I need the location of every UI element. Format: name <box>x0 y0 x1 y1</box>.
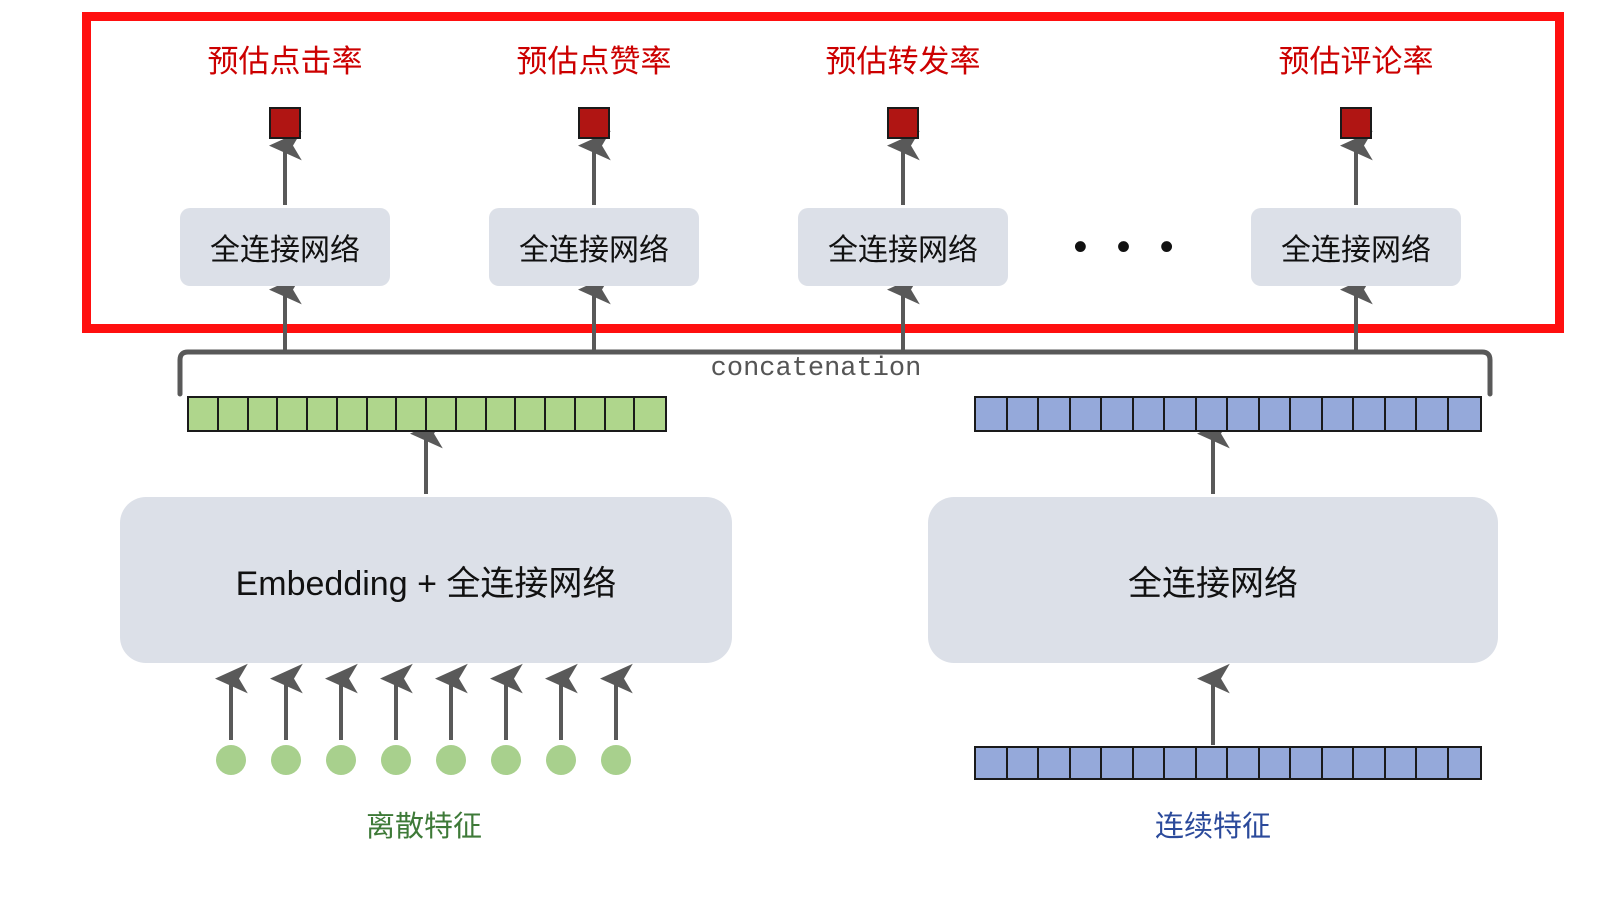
vector-cell <box>976 398 1008 430</box>
vector-cell <box>1354 748 1386 778</box>
fc-box-like: 全连接网络 <box>489 208 699 286</box>
vector-cell <box>1071 748 1103 778</box>
vector-cell <box>427 398 457 430</box>
discrete-feature-dot <box>326 745 356 775</box>
vector-cell <box>1039 398 1071 430</box>
vector-cell <box>1417 748 1449 778</box>
vector-cell <box>1291 748 1323 778</box>
vector-cell <box>487 398 517 430</box>
vector-cell <box>1260 748 1292 778</box>
vector-cell <box>338 398 368 430</box>
vector-cell <box>1291 398 1323 430</box>
vector-cell <box>397 398 427 430</box>
vector-cell <box>1134 398 1166 430</box>
discrete-feature-dot <box>546 745 576 775</box>
discrete-feature-dot <box>436 745 466 775</box>
ellipsis-more-towers: • • • <box>1073 227 1182 267</box>
discrete-feature-dot <box>381 745 411 775</box>
continuous-input-vector <box>974 746 1482 780</box>
prediction-label-ctr: 预估点击率 <box>208 46 363 77</box>
vector-cell <box>606 398 636 430</box>
continuous-fc-box: 全连接网络 <box>928 497 1498 663</box>
vector-cell <box>368 398 398 430</box>
output-square-ctr <box>269 107 301 139</box>
vector-cell <box>1008 748 1040 778</box>
vector-cell <box>1165 398 1197 430</box>
vector-cell <box>278 398 308 430</box>
vector-cell <box>516 398 546 430</box>
vector-cell <box>219 398 249 430</box>
vector-cell <box>1039 748 1071 778</box>
vector-cell <box>1449 748 1481 778</box>
embedding-fc-box: Embedding + 全连接网络 <box>120 497 732 663</box>
vector-cell <box>635 398 665 430</box>
vector-cell <box>1165 748 1197 778</box>
vector-cell <box>1449 398 1481 430</box>
vector-cell <box>1228 748 1260 778</box>
prediction-label-like: 预估点赞率 <box>517 46 672 77</box>
vector-cell <box>308 398 338 430</box>
continuous-feature-label: 连续特征 <box>1155 803 1271 845</box>
concatenation-label: concatenation <box>711 354 922 384</box>
diagram-canvas: 预估点击率 预估点赞率 预估转发率 预估评论率 全连接网络 全连接网络 全连接网… <box>0 0 1599 899</box>
vector-cell <box>1386 748 1418 778</box>
vector-cell <box>1228 398 1260 430</box>
vector-cell <box>1197 748 1229 778</box>
vector-cell <box>1102 398 1134 430</box>
vector-cell <box>1386 398 1418 430</box>
continuous-hidden-vector <box>974 396 1482 432</box>
discrete-feature-dot <box>601 745 631 775</box>
vector-cell <box>546 398 576 430</box>
vector-cell <box>1323 398 1355 430</box>
fc-box-share: 全连接网络 <box>798 208 1008 286</box>
vector-cell <box>1417 398 1449 430</box>
discrete-embedding-vector <box>187 396 667 432</box>
output-square-comment <box>1340 107 1372 139</box>
vector-cell <box>1260 398 1292 430</box>
vector-cell <box>249 398 279 430</box>
vector-cell <box>1323 748 1355 778</box>
discrete-feature-dot <box>491 745 521 775</box>
vector-cell <box>1354 398 1386 430</box>
discrete-feature-label: 离散特征 <box>366 803 482 845</box>
fc-box-ctr: 全连接网络 <box>180 208 390 286</box>
vector-cell <box>1197 398 1229 430</box>
vector-cell <box>1071 398 1103 430</box>
prediction-label-comment: 预估评论率 <box>1279 46 1434 77</box>
vector-cell <box>1134 748 1166 778</box>
vector-cell <box>189 398 219 430</box>
vector-cell <box>1102 748 1134 778</box>
vector-cell <box>976 748 1008 778</box>
vector-cell <box>1008 398 1040 430</box>
prediction-label-share: 预估转发率 <box>826 46 981 77</box>
vector-cell <box>457 398 487 430</box>
fc-box-comment: 全连接网络 <box>1251 208 1461 286</box>
vector-cell <box>576 398 606 430</box>
output-square-like <box>578 107 610 139</box>
output-square-share <box>887 107 919 139</box>
discrete-feature-dot <box>216 745 246 775</box>
discrete-feature-dot <box>271 745 301 775</box>
